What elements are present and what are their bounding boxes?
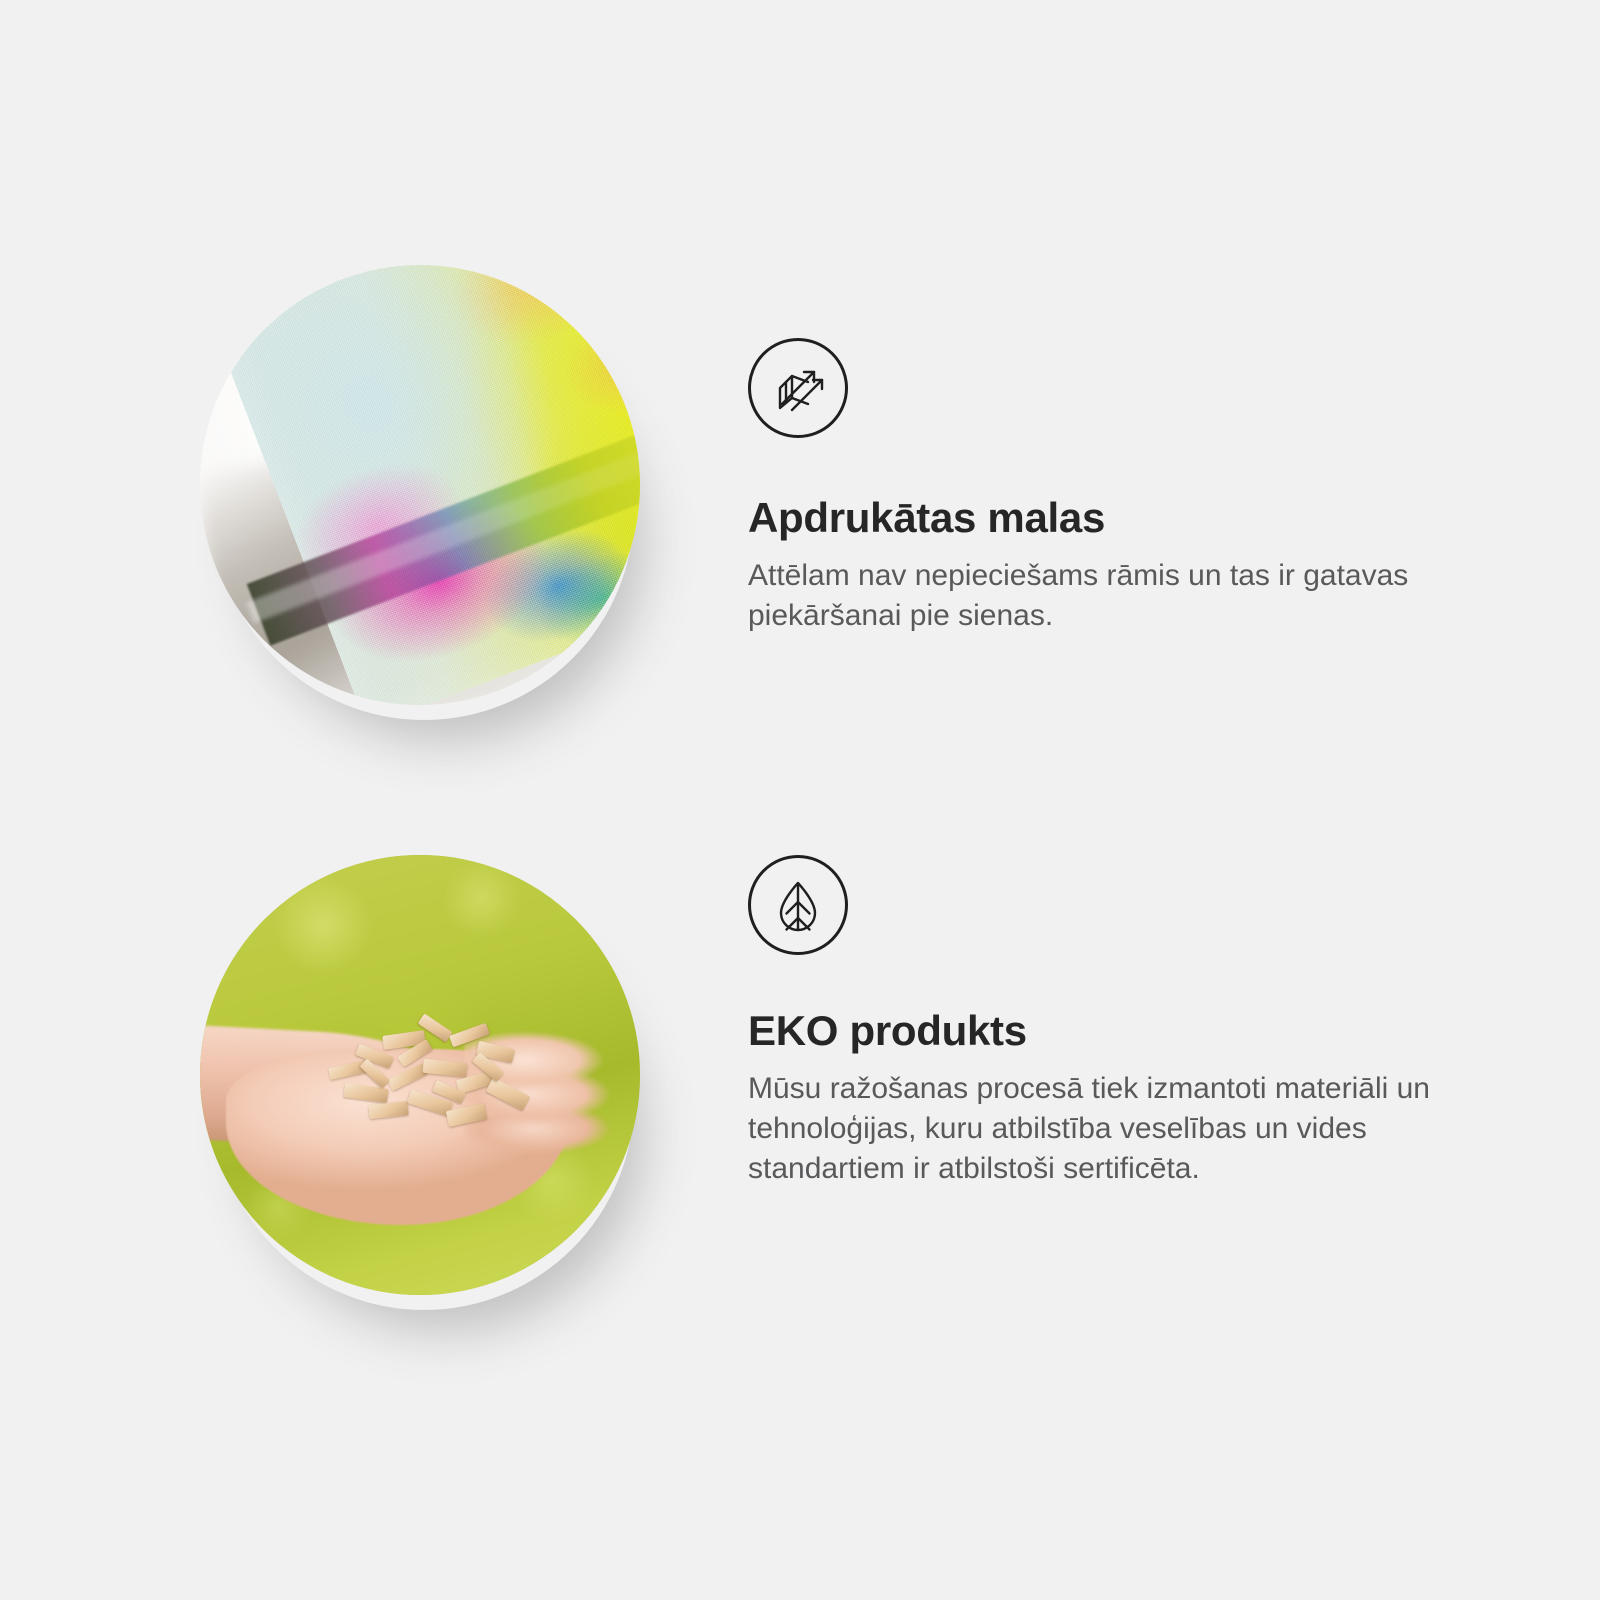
canvas-corner-photo [200,265,640,705]
feature-title: Apdrukātas malas [740,494,1600,542]
feature-list-page: Apdrukātas malas Attēlam nav nepieciešam… [0,0,1600,1600]
leaf-icon [748,855,848,955]
printed-edges-glyph [768,358,828,418]
feature-description: Attēlam nav nepieciešams rāmis un tas ir… [740,556,1488,636]
feature-eko-product: EKO produkts Mūsu ražošanas procesā tiek… [0,830,1600,1350]
feature-text-printed-edges: Apdrukātas malas Attēlam nav nepieciešam… [720,240,1600,636]
feature-text-eko: EKO produkts Mūsu ražošanas procesā tiek… [720,830,1600,1189]
feature-media-eko [0,830,720,1350]
leaf-glyph [768,875,828,935]
feature-media-printed-edges [0,240,720,760]
feature-description: Mūsu ražošanas procesā tiek izmantoti ma… [740,1069,1488,1189]
wood-chips [314,987,560,1163]
feature-printed-edges: Apdrukātas malas Attēlam nav nepieciešam… [0,240,1600,760]
wood-chips-hands-photo [200,855,640,1295]
feature-title: EKO produkts [740,1007,1600,1055]
printed-edges-icon [748,338,848,438]
